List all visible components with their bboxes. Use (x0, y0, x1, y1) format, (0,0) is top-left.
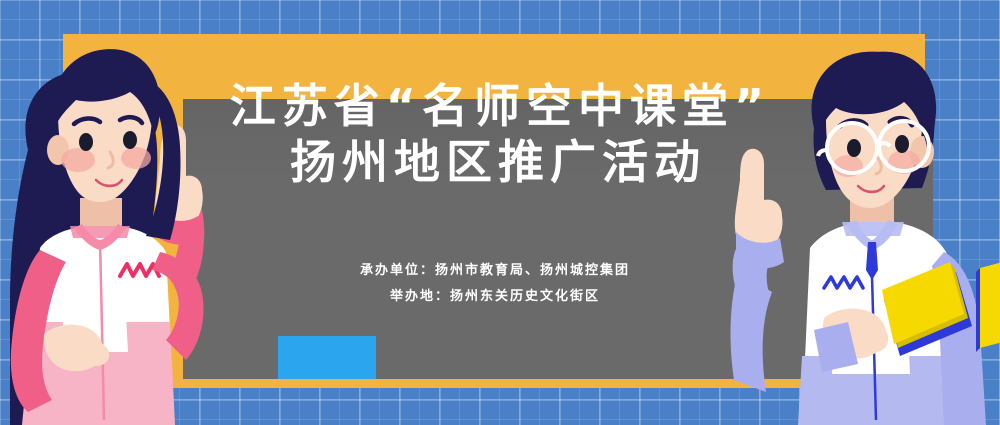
boy-eye-left (847, 139, 861, 157)
boy-pointing-hand (735, 149, 783, 251)
boy-collar-band (842, 222, 904, 236)
girl-eye-left (79, 133, 93, 151)
blue-eraser-block (278, 336, 376, 379)
boy-student-with-books (718, 0, 1000, 425)
boy-eye-right (895, 135, 909, 153)
boy-book-back (976, 258, 1000, 352)
poster-canvas: 江苏省“名师空中课堂” 扬州地区推广活动 承办单位：扬州市教育局、扬州城控集团 … (0, 0, 1000, 425)
girl-student-pointing (0, 0, 270, 425)
girl-cheek-left (61, 148, 95, 172)
girl-collar-band (70, 226, 130, 238)
girl-eye-right (123, 131, 137, 149)
girl-cheek-right (121, 147, 151, 169)
